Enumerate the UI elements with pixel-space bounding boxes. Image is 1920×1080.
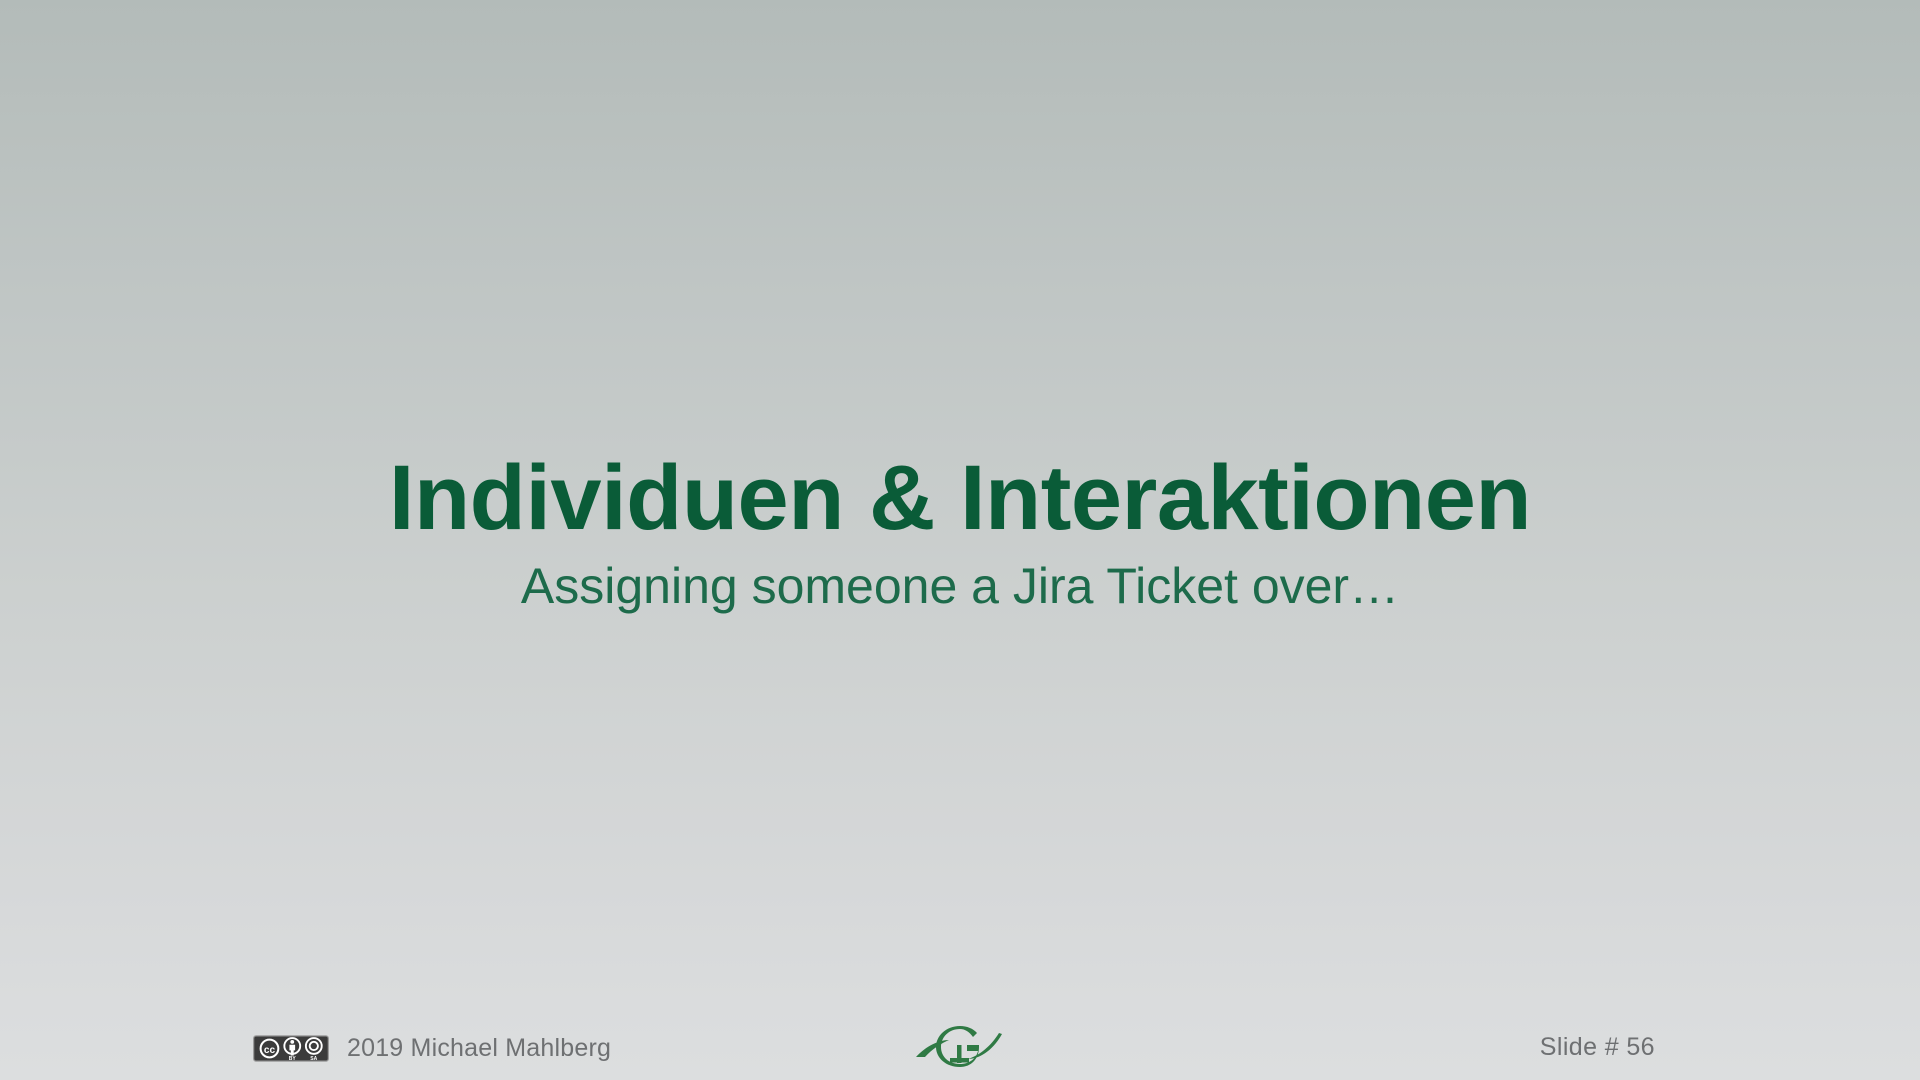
svg-text:BY: BY	[289, 1056, 297, 1062]
slide-footer: cc BY SA 2019 Michael Mahlberg	[0, 1002, 1920, 1080]
copyright-notice: 2019 Michael Mahlberg	[347, 1036, 611, 1061]
slide-number-indicator: Slide # 56	[1540, 1033, 1655, 1061]
svg-text:cc: cc	[264, 1045, 276, 1056]
footer-left-group: cc BY SA 2019 Michael Mahlberg	[253, 1035, 611, 1062]
creative-commons-by-sa-icon: cc BY SA	[253, 1035, 329, 1062]
page-title: Individuen & Interaktionen	[0, 452, 1920, 546]
page-subtitle: Assigning someone a Jira Ticket over…	[0, 560, 1920, 613]
green-g-swoosh-logo-icon	[914, 1019, 1006, 1067]
footer-logo	[914, 1019, 1006, 1067]
presentation-slide: Individuen & Interaktionen Assigning som…	[0, 0, 1920, 1080]
svg-text:SA: SA	[310, 1056, 317, 1062]
footer-right-group: Slide # 56	[1540, 1035, 1655, 1060]
title-block: Individuen & Interaktionen Assigning som…	[0, 452, 1920, 612]
